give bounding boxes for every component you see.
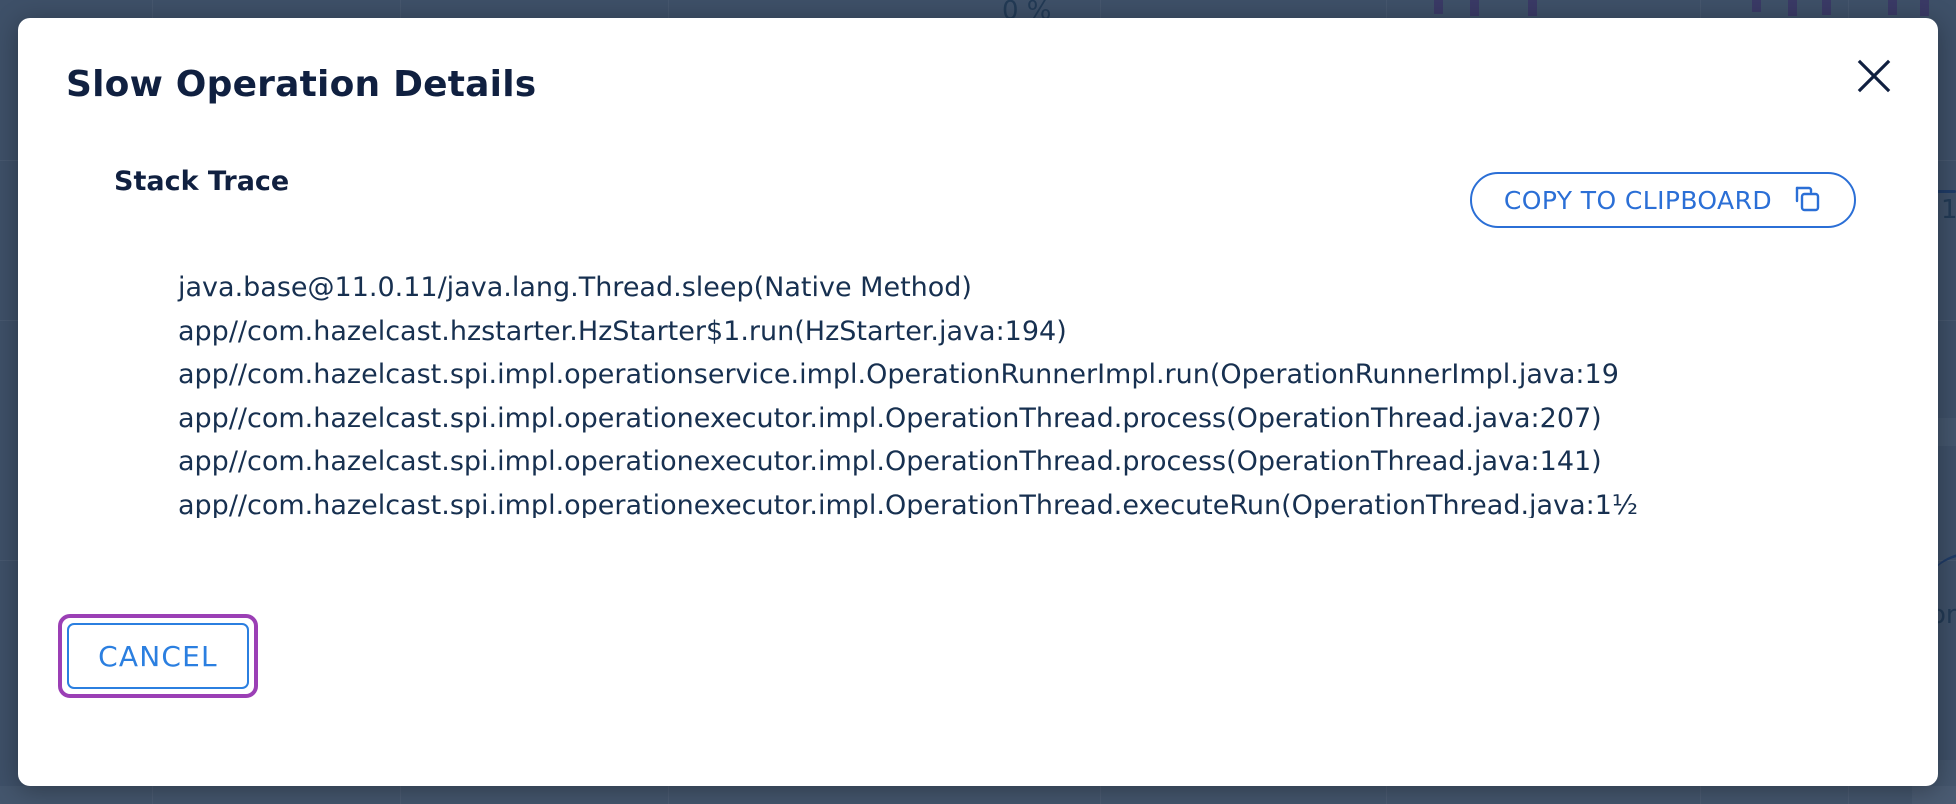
stack-trace-line: app//com.hazelcast.spi.impl.operationexe…	[74, 484, 1922, 519]
copy-icon-glyph	[1792, 185, 1822, 215]
stack-trace-line: app//com.hazelcast.spi.impl.operationexe…	[74, 397, 1922, 441]
backdrop-band	[0, 786, 1956, 804]
backdrop-chart-bar	[1920, 0, 1929, 16]
cancel-button-focus-ring: CANCEL	[58, 614, 258, 698]
stack-trace-heading: Stack Trace	[114, 166, 289, 197]
stack-trace-line: app//com.hazelcast.spi.impl.operationexe…	[74, 440, 1922, 484]
backdrop-chart-bar	[1788, 0, 1797, 16]
copy-button-label: COPY TO CLIPBOARD	[1504, 186, 1772, 215]
backdrop-chart-bar	[1434, 0, 1443, 14]
copy-icon	[1792, 185, 1822, 215]
stack-trace-content[interactable]: java.base@11.0.11/java.lang.Thread.sleep…	[74, 266, 1922, 518]
slow-operation-details-dialog: Slow Operation Details Stack Trace COPY …	[18, 18, 1938, 786]
stack-trace-line: app//com.hazelcast.hzstarter.HzStarter$1…	[74, 310, 1922, 354]
backdrop-chart-bar	[1470, 0, 1479, 16]
close-icon[interactable]	[1842, 44, 1906, 108]
backdrop-chart-bar	[1822, 0, 1831, 15]
backdrop-chart-bar	[1528, 0, 1537, 16]
backdrop-label: 1	[1941, 195, 1956, 225]
backdrop-chart-bar	[1888, 0, 1897, 15]
dialog-title: Slow Operation Details	[66, 64, 536, 105]
stack-trace-line: app//com.hazelcast.spi.impl.operationser…	[74, 353, 1922, 397]
copy-to-clipboard-button[interactable]: COPY TO CLIPBOARD	[1470, 172, 1856, 228]
cancel-button[interactable]: CANCEL	[67, 623, 249, 689]
backdrop-chart-bar	[1752, 0, 1761, 12]
stack-trace-line: java.base@11.0.11/java.lang.Thread.sleep…	[74, 266, 1922, 310]
close-icon-glyph	[1857, 59, 1891, 93]
